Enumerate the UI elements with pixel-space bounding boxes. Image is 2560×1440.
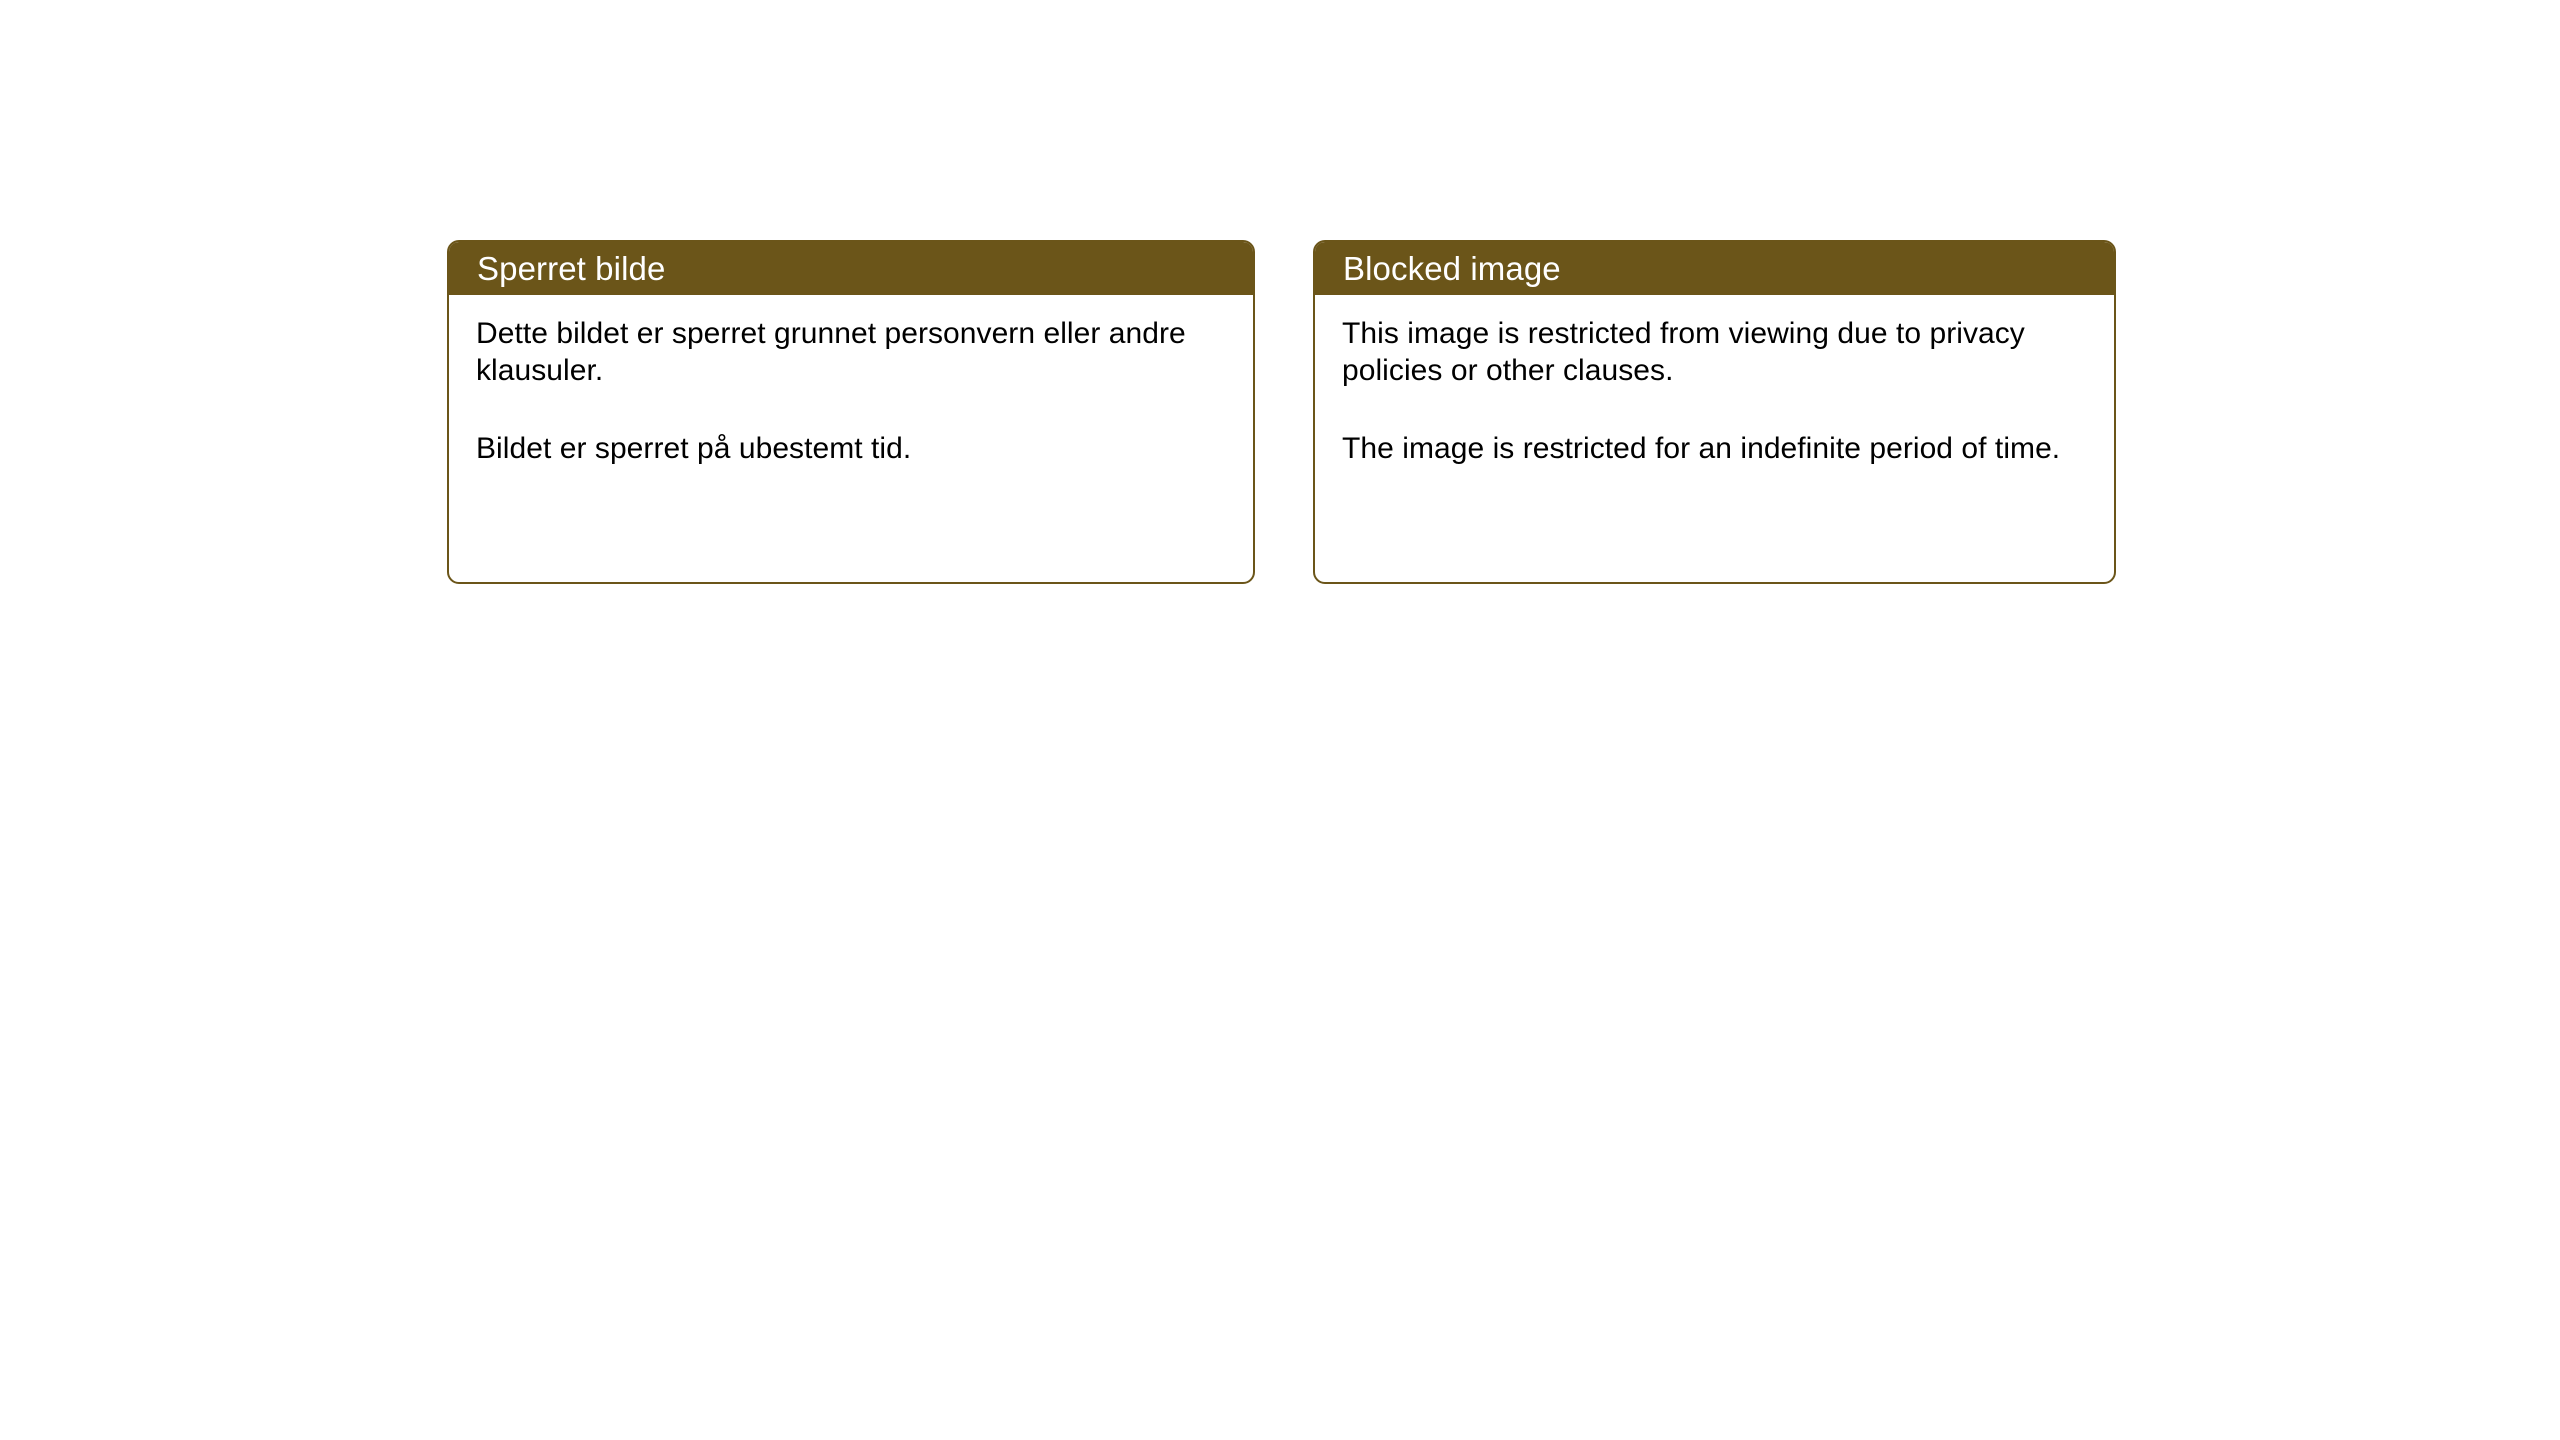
blocked-image-notice-english: Blocked image This image is restricted f… — [1313, 240, 2116, 584]
notice-paragraph-duration-english: The image is restricted for an indefinit… — [1342, 430, 2088, 467]
notice-paragraph-duration-norwegian: Bildet er sperret på ubestemt tid. — [476, 430, 1227, 467]
notice-header-norwegian: Sperret bilde — [447, 240, 1255, 295]
notice-body-norwegian: Dette bildet er sperret grunnet personve… — [449, 295, 1253, 467]
page-canvas: Sperret bilde Dette bildet er sperret gr… — [0, 0, 2560, 1440]
notice-header-english: Blocked image — [1313, 240, 2116, 295]
notice-paragraph-reason-english: This image is restricted from viewing du… — [1342, 315, 2088, 389]
blocked-image-notice-norwegian: Sperret bilde Dette bildet er sperret gr… — [447, 240, 1255, 584]
notice-paragraph-reason-norwegian: Dette bildet er sperret grunnet personve… — [476, 315, 1227, 389]
notice-title-norwegian: Sperret bilde — [477, 252, 665, 285]
notice-title-english: Blocked image — [1343, 252, 1561, 285]
notice-body-english: This image is restricted from viewing du… — [1315, 295, 2114, 467]
